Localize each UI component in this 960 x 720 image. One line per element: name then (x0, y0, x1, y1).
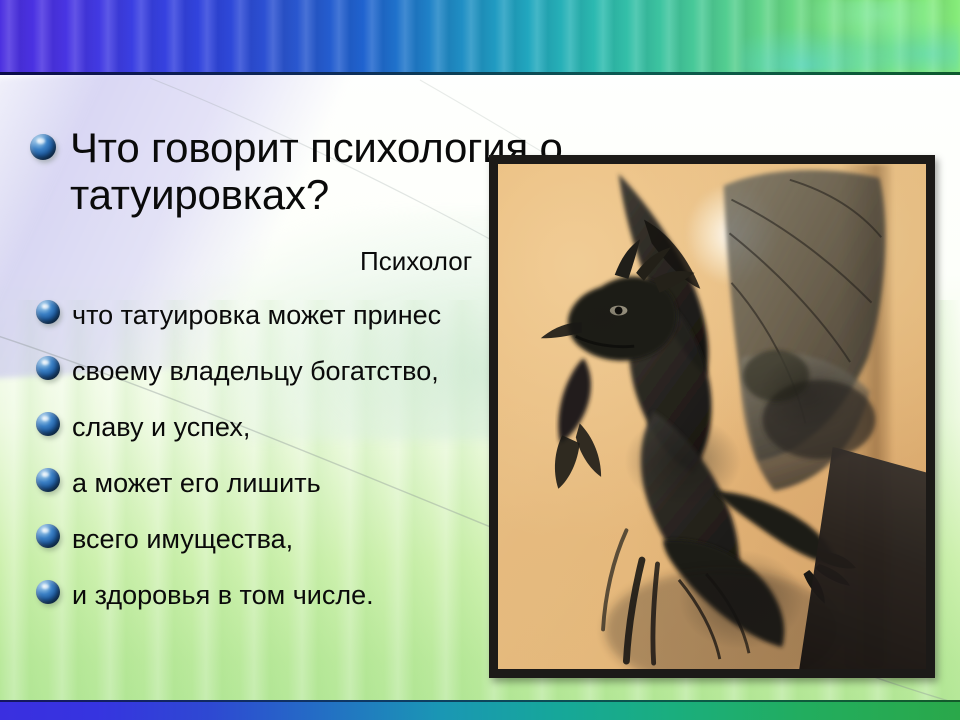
list-item: что татуировка может принес (36, 300, 441, 331)
bullet-sphere-icon (36, 356, 60, 380)
list-item-label: своему владельцу богатство, (72, 356, 439, 387)
top-band-rule (0, 72, 960, 75)
bullet-sphere-icon (36, 412, 60, 436)
presentation-slide: Что говорит психология о татуировках? Пс… (0, 0, 960, 720)
list-item-label: и здоровья в том числе. (72, 580, 374, 611)
bullet-sphere-icon (36, 468, 60, 492)
list-item-label: что татуировка может принес (72, 300, 441, 331)
lead-text: Психолог (360, 246, 472, 277)
list-item: всего имущества, (36, 524, 293, 555)
bullet-sphere-icon (36, 300, 60, 324)
list-item-label: всего имущества, (72, 524, 293, 555)
list-item-label: славу и успех, (72, 412, 250, 443)
dragon-tattoo-photo (498, 164, 926, 669)
list-item: и здоровья в том числе. (36, 580, 374, 611)
bottom-gradient-band (0, 702, 960, 720)
list-item: своему владельцу богатство, (36, 356, 439, 387)
bullet-sphere-icon (36, 524, 60, 548)
bullet-sphere-icon (30, 134, 56, 160)
list-item: а может его лишить (36, 468, 321, 499)
dragon-tattoo-photo-frame (489, 155, 935, 678)
bullet-sphere-icon (36, 580, 60, 604)
list-item-label: а может его лишить (72, 468, 321, 499)
list-item: славу и успех, (36, 412, 250, 443)
top-band-cyan-cloud (740, 0, 960, 72)
